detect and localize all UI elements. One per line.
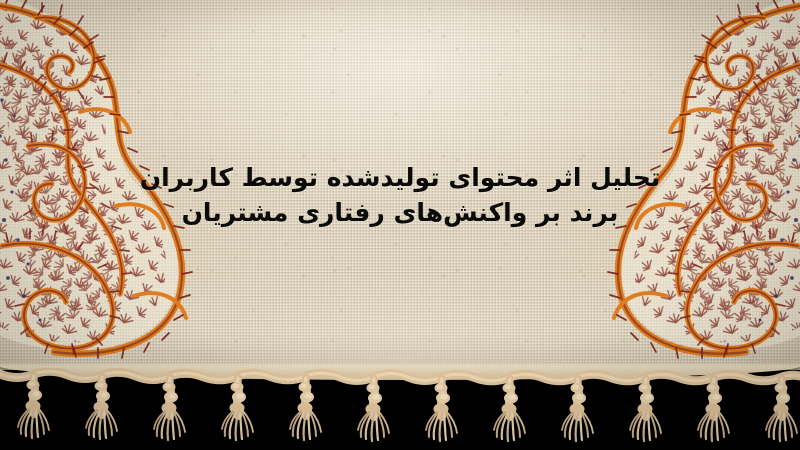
ornament-right [566, 0, 800, 366]
bottom-background [0, 370, 800, 450]
ornament-left [0, 0, 234, 366]
fabric-panel [0, 0, 800, 378]
fabric-texture-speckle [0, 0, 800, 378]
fabric-edge-shading [0, 0, 800, 378]
slide-canvas: تحلیل اثر محتوای تولیدشده توسط کاربران ب… [0, 0, 800, 450]
